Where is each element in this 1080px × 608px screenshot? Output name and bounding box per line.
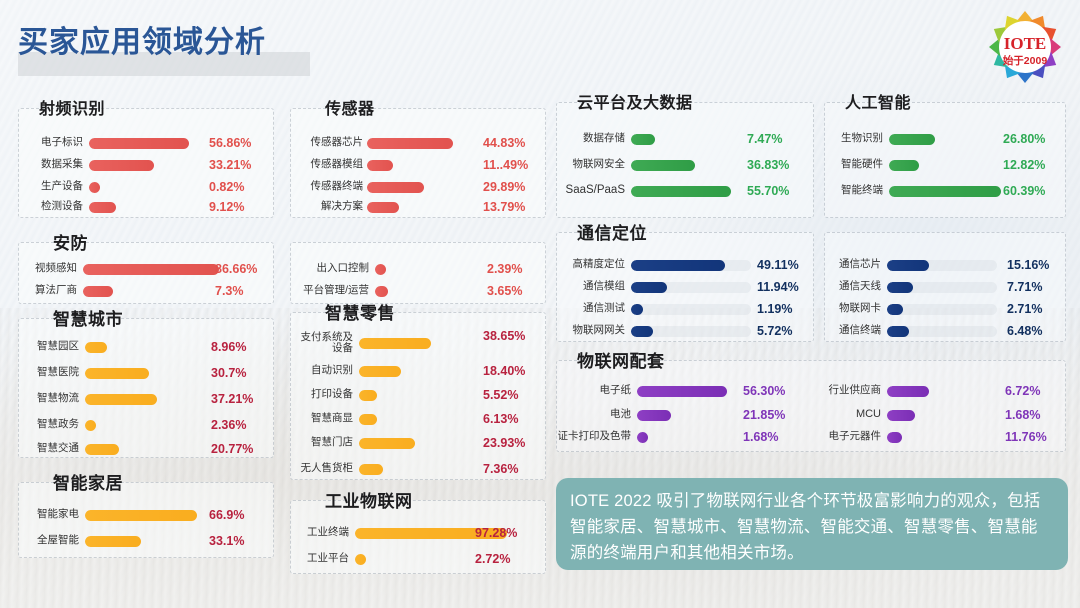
- page-title: 买家应用领域分析: [18, 22, 266, 64]
- card-title-security: 安防: [49, 229, 92, 254]
- rows-cloud: 数据存储 7.47% 物联网安全 36.83% SaaS/PaaS 55.70%: [557, 103, 813, 217]
- card-security: 安防 视频感知 86.66% 算法厂商 7.3%: [18, 242, 274, 304]
- card-industrial-iot: 工业物联网 工业终端 97.28% 工业平台 2.72%: [290, 500, 546, 574]
- card-title-communication: 通信定位: [573, 219, 651, 244]
- bar-fill: [887, 432, 902, 443]
- card-ai: 人工智能 生物识别 26.80% 智能硬件 12.82% 智能终端 60.39%: [824, 102, 1066, 218]
- bar-value: 49.11%: [757, 258, 799, 272]
- bar-label: 检测设备: [19, 201, 83, 213]
- bar-value: 8.96%: [211, 340, 246, 354]
- bar-row: 智能终端 60.39%: [825, 181, 1067, 201]
- bar-value: 2.39%: [487, 262, 522, 276]
- bar-row: 工业终端 97.28%: [291, 523, 547, 543]
- bar-row: 通信天线 7.71%: [825, 277, 1067, 297]
- bar-value: 2.36%: [211, 418, 246, 432]
- rows-iot-right: 行业供应商 6.72% MCU 1.68% 电子元器件 11.76%: [557, 361, 1065, 451]
- bar-value: 33.1%: [209, 534, 244, 548]
- bar-label: 数据采集: [19, 159, 83, 171]
- bar-fill: [887, 260, 929, 271]
- bar-fill: [367, 138, 453, 149]
- bar-value: 7.3%: [215, 284, 244, 298]
- bar-label: 生物识别: [825, 133, 883, 145]
- bar-fill: [359, 414, 377, 425]
- bar-fill: [85, 368, 149, 379]
- bar-fill: [631, 282, 667, 293]
- bar-row: 通信芯片 15.16%: [825, 255, 1067, 275]
- bar-row: 生物识别 26.80%: [825, 129, 1067, 149]
- card-title-smart-retail: 智慧零售: [321, 299, 399, 324]
- bar-value: 7.71%: [1007, 280, 1042, 294]
- bar-row: 物联网网关 5.72%: [557, 321, 815, 341]
- bar-fill: [359, 338, 431, 349]
- card-title-smart-home: 智能家居: [49, 469, 127, 494]
- bar-label: 行业供应商: [819, 385, 881, 397]
- bar-fill: [83, 264, 219, 275]
- card-title-cloud: 云平台及大数据: [573, 89, 697, 113]
- bar-fill: [887, 410, 915, 421]
- card-security-right: 出入口控制 2.39% 平台管理/运营 3.65%: [290, 242, 546, 304]
- bar-label: 物联网安全: [557, 159, 625, 171]
- bar-value: 11.94%: [757, 280, 799, 294]
- bar-row: 全屋智能 33.1%: [19, 531, 275, 551]
- bar-row: 智能家电 66.9%: [19, 505, 275, 525]
- bar-label: 支付系统及 设备: [291, 332, 353, 355]
- bar-label: 通信测试: [557, 303, 625, 315]
- iote-logo: IOTE 始于2009: [983, 7, 1067, 87]
- bar-fill: [887, 304, 903, 315]
- bar-fill: [83, 286, 113, 297]
- bar-fill: [359, 464, 383, 475]
- bar-value: 6.48%: [1007, 324, 1042, 338]
- bar-value: 18.40%: [483, 364, 525, 378]
- card-communication-right: 通信芯片 15.16% 通信天线 7.71% 物联网卡 2.71% 通信终端 6…: [824, 232, 1066, 342]
- bar-row: SaaS/PaaS 55.70%: [557, 181, 815, 201]
- bar-label: 解决方案: [291, 201, 363, 213]
- bar-label: 通信天线: [825, 281, 881, 293]
- bar-fill: [85, 342, 107, 353]
- bar-row: 支付系统及 设备 38.65%: [291, 333, 547, 353]
- bar-fill: [89, 182, 100, 193]
- bar-value: 15.16%: [1007, 258, 1049, 272]
- bar-value: 36.83%: [747, 158, 789, 172]
- bar-row: 检测设备 9.12%: [19, 197, 275, 217]
- bar-fill: [85, 444, 119, 455]
- bar-label: 平台管理/运营: [291, 285, 369, 297]
- bar-label: 智能家电: [19, 509, 79, 521]
- bar-fill: [375, 286, 388, 297]
- card-cloud: 云平台及大数据 数据存储 7.47% 物联网安全 36.83% SaaS/Paa…: [556, 102, 814, 218]
- bar-label: MCU: [819, 409, 881, 421]
- bar-fill: [887, 326, 909, 337]
- bar-label: 打印设备: [291, 389, 353, 401]
- card-title-rfid: 射频识别: [35, 95, 109, 119]
- bar-value: 44.83%: [483, 136, 525, 150]
- bar-row: 通信模组 11.94%: [557, 277, 815, 297]
- iote-logo-icon: IOTE 始于2009: [983, 7, 1067, 87]
- bar-label: 出入口控制: [291, 263, 369, 275]
- bar-value: 12.82%: [1003, 158, 1045, 172]
- bar-row: 电子标识 56.86%: [19, 133, 275, 153]
- bar-value: 0.82%: [209, 180, 244, 194]
- bar-fill: [631, 326, 653, 337]
- bar-row: MCU 1.68%: [819, 405, 1067, 425]
- bar-value: 7.47%: [747, 132, 782, 146]
- bar-value: 1.68%: [1005, 408, 1040, 422]
- logo-main-text: IOTE: [1004, 34, 1047, 53]
- bar-label: 智慧政务: [19, 419, 79, 431]
- bar-label: 生产设备: [19, 181, 83, 193]
- bar-value: 97.28%: [475, 526, 517, 540]
- bar-row: 物联网安全 36.83%: [557, 155, 815, 175]
- bar-value: 11..49%: [483, 158, 528, 172]
- bar-value: 86.66%: [215, 262, 257, 276]
- bar-label: 无人售货柜: [291, 463, 353, 475]
- bar-row: 智慧政务 2.36%: [19, 415, 275, 435]
- bar-fill: [367, 202, 399, 213]
- bar-row: 行业供应商 6.72%: [819, 381, 1067, 401]
- bar-label: 算法厂商: [19, 285, 77, 297]
- bar-fill: [631, 134, 655, 145]
- rows-sensor: 传感器芯片 44.83% 传感器模组 11..49% 传感器终端 29.89% …: [291, 109, 545, 217]
- bar-value: 7.36%: [483, 462, 518, 476]
- bar-row: 智慧门店 23.93%: [291, 433, 547, 453]
- bar-value: 9.12%: [209, 200, 244, 214]
- bar-value: 6.72%: [1005, 384, 1040, 398]
- card-title-ai: 人工智能: [841, 89, 915, 113]
- rows-smart-retail: 支付系统及 设备 38.65% 自动识别 18.40% 打印设备 5.52% 智…: [291, 313, 545, 479]
- bar-value: 5.72%: [757, 324, 792, 338]
- bar-label: 视频感知: [19, 263, 77, 275]
- bar-fill: [375, 264, 386, 275]
- bar-value: 6.13%: [483, 412, 518, 426]
- bar-row: 智慧医院 30.7%: [19, 363, 275, 383]
- card-smart-city: 智慧城市 智慧园区 8.96% 智慧医院 30.7% 智慧物流 37.21% 智…: [18, 318, 274, 458]
- bar-fill: [359, 390, 377, 401]
- bar-label: 通信终端: [825, 325, 881, 337]
- bar-fill: [631, 304, 643, 315]
- bar-row: 传感器终端 29.89%: [291, 177, 547, 197]
- rows-smart-home: 智能家电 66.9% 全屋智能 33.1%: [19, 483, 273, 557]
- bar-row: 智能硬件 12.82%: [825, 155, 1067, 175]
- bar-value: 13.79%: [483, 200, 525, 214]
- bar-label: 智慧医院: [19, 367, 79, 379]
- bar-value: 5.52%: [483, 388, 518, 402]
- title-wrapper: 买家应用领域分析: [18, 22, 266, 64]
- bar-label: 电子标识: [19, 137, 83, 149]
- bar-value: 26.80%: [1003, 132, 1045, 146]
- card-rfid: 射频识别 电子标识 56.86% 数据采集 33.21% 生产设备 0.82% …: [18, 108, 274, 218]
- bar-row: 工业平台 2.72%: [291, 549, 547, 569]
- bar-fill: [359, 366, 401, 377]
- bar-row: 自动识别 18.40%: [291, 361, 547, 381]
- bar-row: 智慧商显 6.13%: [291, 409, 547, 429]
- bar-value: 66.9%: [209, 508, 244, 522]
- bar-fill: [887, 282, 913, 293]
- bar-label: 物联网卡: [825, 303, 881, 315]
- bar-fill: [631, 160, 695, 171]
- bar-value: 38.65%: [483, 329, 525, 343]
- bar-value: 2.71%: [1007, 302, 1042, 316]
- card-communication: 通信定位 高精度定位 49.11% 通信模组 11.94% 通信测试 1.19%…: [556, 232, 814, 342]
- card-sensor: 传感器 传感器芯片 44.83% 传感器模组 11..49% 传感器终端 29.…: [290, 108, 546, 218]
- bar-fill: [355, 554, 366, 565]
- bar-label: 传感器芯片: [291, 137, 363, 149]
- bar-fill: [889, 160, 919, 171]
- bar-label: 传感器终端: [291, 181, 363, 193]
- bar-value: 33.21%: [209, 158, 251, 172]
- bar-row: 物联网卡 2.71%: [825, 299, 1067, 319]
- rows-security-right: 出入口控制 2.39% 平台管理/运营 3.65%: [291, 243, 545, 303]
- bar-row: 智慧交通 20.77%: [19, 439, 275, 459]
- bar-fill: [85, 420, 96, 431]
- bar-fill: [359, 438, 415, 449]
- bar-row: 传感器芯片 44.83%: [291, 133, 547, 153]
- bar-value: 1.19%: [757, 302, 792, 316]
- bar-row: 平台管理/运营 3.65%: [291, 281, 547, 301]
- bar-value: 11.76%: [1005, 430, 1047, 444]
- bar-row: 智慧园区 8.96%: [19, 337, 275, 357]
- bar-row: 数据采集 33.21%: [19, 155, 275, 175]
- bar-row: 打印设备 5.52%: [291, 385, 547, 405]
- card-title-smart-city: 智慧城市: [49, 305, 127, 330]
- bar-label: 高精度定位: [557, 259, 625, 271]
- bar-fill: [631, 186, 731, 197]
- bar-fill: [85, 536, 141, 547]
- bar-label: 智能终端: [825, 185, 883, 197]
- bar-fill: [631, 260, 725, 271]
- bar-value: 20.77%: [211, 442, 253, 456]
- bar-label: 智慧门店: [291, 437, 353, 449]
- bar-row: 通信终端 6.48%: [825, 321, 1067, 341]
- bar-fill: [89, 160, 154, 171]
- bar-row: 传感器模组 11..49%: [291, 155, 547, 175]
- bar-row: 出入口控制 2.39%: [291, 259, 547, 279]
- bar-label: 电子元器件: [819, 431, 881, 443]
- bar-fill: [367, 182, 424, 193]
- bar-row: 电子元器件 11.76%: [819, 427, 1067, 447]
- bar-value: 37.21%: [211, 392, 253, 406]
- bar-row: 智慧物流 37.21%: [19, 389, 275, 409]
- bar-label: 智慧园区: [19, 341, 79, 353]
- bar-fill: [85, 394, 157, 405]
- bar-value: 55.70%: [747, 184, 789, 198]
- bar-fill: [89, 202, 116, 213]
- bar-value: 30.7%: [211, 366, 246, 380]
- card-smart-retail: 智慧零售 支付系统及 设备 38.65% 自动识别 18.40% 打印设备 5.…: [290, 312, 546, 480]
- bar-label: 传感器模组: [291, 159, 363, 171]
- rows-ai: 生物识别 26.80% 智能硬件 12.82% 智能终端 60.39%: [825, 103, 1065, 217]
- bar-row: 数据存储 7.47%: [557, 129, 815, 149]
- bar-label: 数据存储: [557, 133, 625, 145]
- bar-row: 视频感知 86.66%: [19, 259, 275, 279]
- rows-communication-right: 通信芯片 15.16% 通信天线 7.71% 物联网卡 2.71% 通信终端 6…: [825, 233, 1065, 341]
- card-title-sensor: 传感器: [321, 95, 379, 119]
- bar-label: 全屋智能: [19, 535, 79, 547]
- bar-row: 通信测试 1.19%: [557, 299, 815, 319]
- bar-row: 解决方案 13.79%: [291, 197, 547, 217]
- bar-value: 3.65%: [487, 284, 522, 298]
- bar-value: 60.39%: [1003, 184, 1045, 198]
- bar-fill: [367, 160, 393, 171]
- bar-label: 自动识别: [291, 365, 353, 377]
- bar-label: 智慧交通: [19, 443, 79, 455]
- logo-sub-text: 始于2009: [1003, 54, 1048, 67]
- rows-smart-city: 智慧园区 8.96% 智慧医院 30.7% 智慧物流 37.21% 智慧政务 2…: [19, 319, 273, 457]
- card-smart-home: 智能家居 智能家电 66.9% 全屋智能 33.1%: [18, 482, 274, 558]
- bar-fill: [889, 134, 935, 145]
- card-iot-supporting: 物联网配套 电子纸 56.30% 电池 21.85% 证卡打印及色带 1.68%…: [556, 360, 1066, 452]
- bar-label: 智慧商显: [291, 413, 353, 425]
- bar-row: 无人售货柜 7.36%: [291, 459, 547, 479]
- bar-value: 2.72%: [475, 552, 510, 566]
- bar-label: 智慧物流: [19, 393, 79, 405]
- bar-value: 29.89%: [483, 180, 525, 194]
- bar-value: 56.86%: [209, 136, 251, 150]
- rows-rfid: 电子标识 56.86% 数据采集 33.21% 生产设备 0.82% 检测设备 …: [19, 109, 273, 217]
- bar-fill: [85, 510, 197, 521]
- bar-value: 23.93%: [483, 436, 525, 450]
- card-title-iot-supporting: 物联网配套: [573, 347, 669, 372]
- bar-label: 通信模组: [557, 281, 625, 293]
- bar-label: 工业终端: [291, 527, 349, 539]
- bar-fill: [887, 386, 929, 397]
- page-header: 买家应用领域分析: [0, 0, 1080, 92]
- bar-label: 智能硬件: [825, 159, 883, 171]
- bar-label: 通信芯片: [825, 259, 881, 271]
- bar-row: 高精度定位 49.11%: [557, 255, 815, 275]
- bar-label: SaaS/PaaS: [557, 185, 625, 197]
- summary-note: IOTE 2022 吸引了物联网行业各个环节极富影响力的观众，包括智能家居、智慧…: [556, 478, 1068, 570]
- bar-label: 工业平台: [291, 553, 349, 565]
- bar-row: 生产设备 0.82%: [19, 177, 275, 197]
- bar-row: 算法厂商 7.3%: [19, 281, 275, 301]
- bar-fill: [889, 186, 1001, 197]
- rows-communication-left: 高精度定位 49.11% 通信模组 11.94% 通信测试 1.19% 物联网网…: [557, 233, 813, 341]
- bar-fill: [89, 138, 189, 149]
- bar-label: 物联网网关: [557, 325, 625, 337]
- card-title-industrial-iot: 工业物联网: [321, 487, 417, 512]
